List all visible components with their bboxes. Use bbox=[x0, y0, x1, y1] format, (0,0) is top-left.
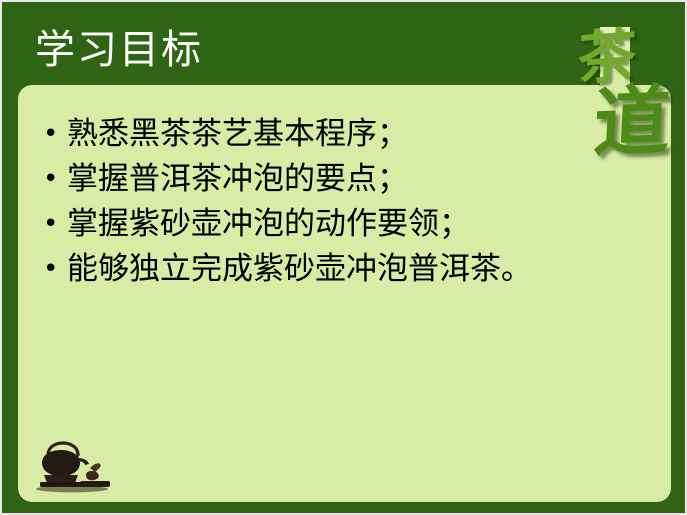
bullet-marker-icon: • bbox=[43, 157, 67, 202]
slide-title: 学习目标 bbox=[35, 26, 203, 74]
teapot-icon bbox=[30, 431, 114, 497]
list-item: • 能够独立完成紫砂壶冲泡普洱茶。 bbox=[43, 247, 661, 292]
list-item: • 掌握普洱茶冲泡的要点； bbox=[43, 157, 661, 202]
calligraphy-dao-character: 道 bbox=[592, 83, 672, 162]
list-item-label: 能够独立完成紫砂壶冲泡普洱茶。 bbox=[67, 247, 532, 292]
bullet-marker-icon: • bbox=[43, 202, 67, 247]
bullet-marker-icon: • bbox=[43, 247, 67, 292]
list-item: • 掌握紫砂壶冲泡的动作要领； bbox=[43, 202, 661, 247]
list-item: • 熟悉黑茶茶艺基本程序； bbox=[43, 112, 661, 157]
list-item-label: 掌握普洱茶冲泡的要点； bbox=[67, 157, 408, 202]
bullet-marker-icon: • bbox=[43, 112, 67, 157]
objective-list: • 熟悉黑茶茶艺基本程序； • 掌握普洱茶冲泡的要点； • 掌握紫砂壶冲泡的动作… bbox=[43, 112, 661, 292]
list-item-label: 熟悉黑茶茶艺基本程序； bbox=[67, 112, 408, 157]
slide: 茶 道 学习目标 • 熟悉黑茶茶艺基本程序； • 掌握普洱茶冲泡的要点； • 掌… bbox=[0, 0, 687, 515]
list-item-label: 掌握紫砂壶冲泡的动作要领； bbox=[67, 202, 470, 247]
content-panel: • 熟悉黑茶茶艺基本程序； • 掌握普洱茶冲泡的要点； • 掌握紫砂壶冲泡的动作… bbox=[18, 85, 671, 502]
